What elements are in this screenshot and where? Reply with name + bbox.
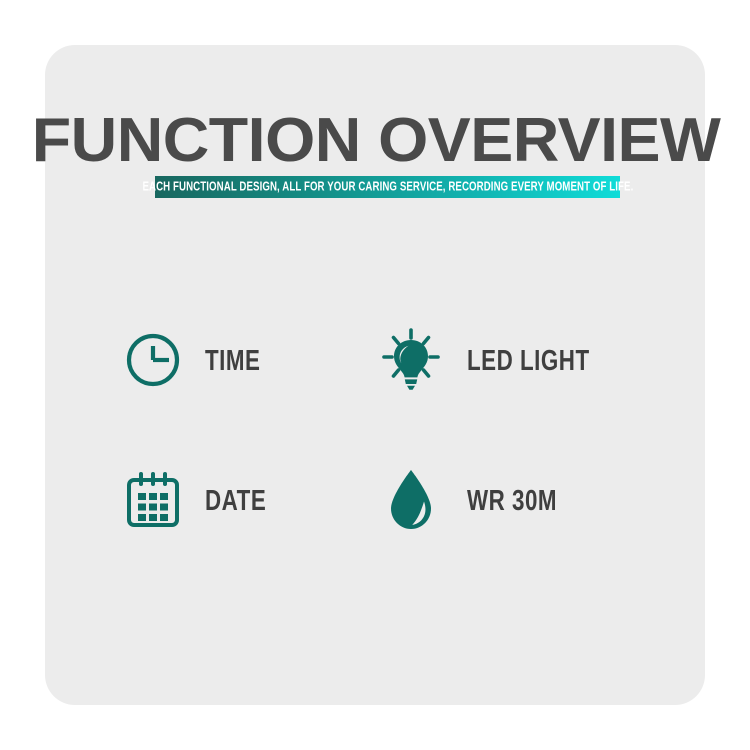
subtitle-banner: EACH FUNCTIONAL DESIGN, ALL FOR YOUR CAR… [155,176,620,198]
subtitle-text: EACH FUNCTIONAL DESIGN, ALL FOR YOUR CAR… [142,181,633,194]
feature-label-date: DATE [205,486,266,515]
poster-page: FUNCTION OVERVIEW EACH FUNCTIONAL DESIGN… [0,0,750,750]
calendar-icon [117,464,189,536]
feature-card: FUNCTION OVERVIEW EACH FUNCTIONAL DESIGN… [45,45,705,705]
lightbulb-icon [375,324,447,396]
water-drop-icon [375,464,447,536]
feature-label-water-resistance: WR 30M [467,486,557,515]
feature-label-led-light: LED LIGHT [467,346,590,375]
feature-label-time: TIME [205,346,260,375]
feature-item-water-resistance: WR 30M [365,430,705,570]
feature-item-time: TIME [45,290,365,430]
feature-item-date: DATE [45,430,365,570]
feature-item-led-light: LED LIGHT [365,290,705,430]
clock-icon [117,324,189,396]
page-title: FUNCTION OVERVIEW [32,110,718,172]
feature-grid: TIME [45,290,705,570]
